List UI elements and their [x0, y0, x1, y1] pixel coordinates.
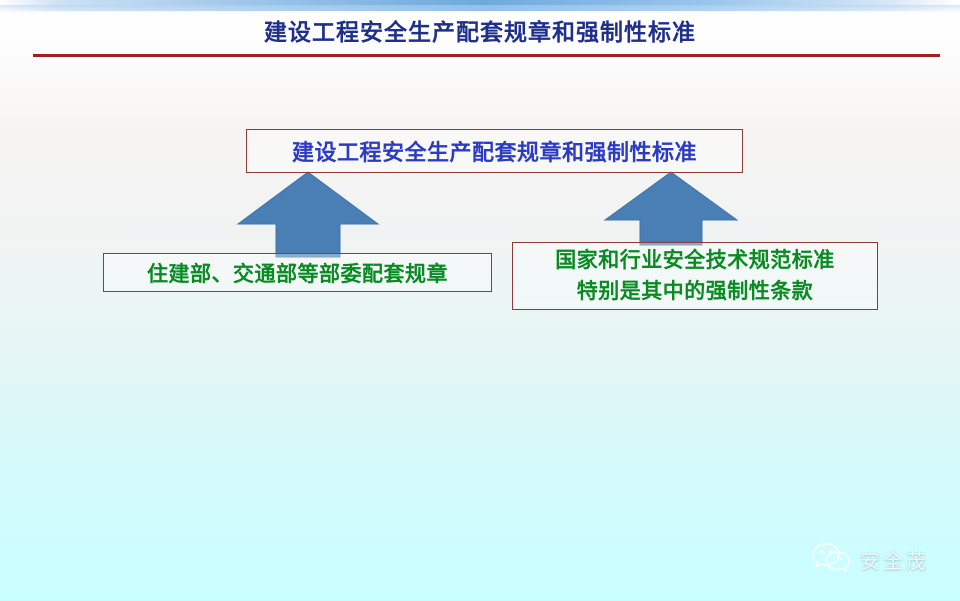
- title-divider: [33, 54, 940, 57]
- diagram-node-right-label-line2: 特别是其中的强制性条款: [577, 276, 814, 307]
- watermark-label: 安全茂: [860, 545, 929, 574]
- diagram-node-right: 国家和行业安全技术规范标准 特别是其中的强制性条款: [512, 242, 878, 310]
- page-title: 建设工程安全生产配套规章和强制性标准: [0, 18, 960, 48]
- up-arrow-left-icon: [236, 170, 380, 262]
- diagram-node-top-label: 建设工程安全生产配套规章和强制性标准: [292, 135, 697, 167]
- diagram-node-left: 住建部、交通部等部委配套规章: [103, 253, 492, 292]
- watermark: 安全茂: [812, 542, 929, 576]
- diagram-node-top: 建设工程安全生产配套规章和强制性标准: [246, 129, 743, 173]
- up-arrow-right-icon: [603, 170, 739, 250]
- wechat-icon: [812, 542, 852, 576]
- diagram-node-right-label-line1: 国家和行业安全技术规范标准: [555, 245, 835, 276]
- top-decorative-bar-glow: [0, 5, 960, 14]
- slide-canvas: 建设工程安全生产配套规章和强制性标准 建设工程安全生产配套规章和强制性标准 住建…: [0, 0, 960, 601]
- diagram-node-left-label: 住建部、交通部等部委配套规章: [147, 258, 448, 288]
